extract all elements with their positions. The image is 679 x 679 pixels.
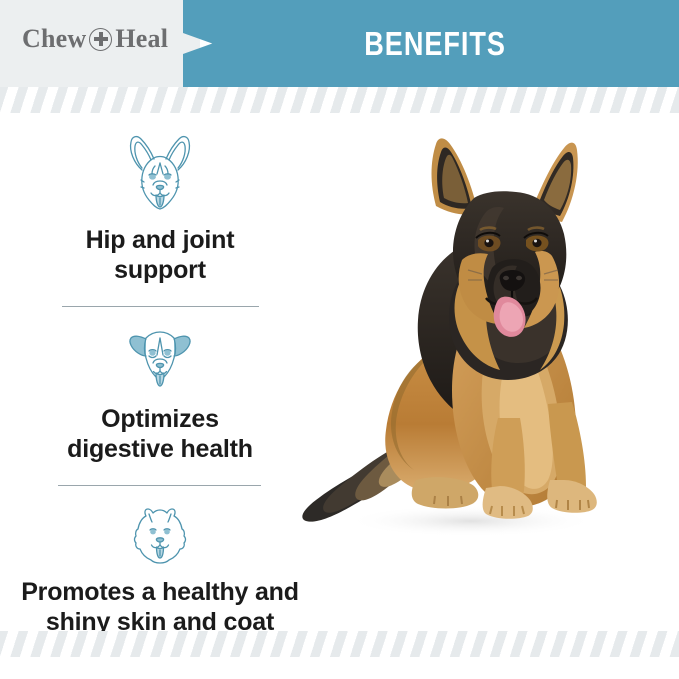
stripe-band-bottom — [0, 631, 679, 657]
benefit-item-skin-and-coat: Promotes a healthy and shiny skin and co… — [0, 504, 320, 637]
benefits-list: Hip and joint support — [0, 130, 320, 637]
benefit-label-line1: Promotes a healthy and — [0, 578, 320, 608]
page-title: BENEFITS — [228, 0, 635, 87]
circled-plus-icon — [89, 28, 112, 51]
samoyed-dog-face-icon — [0, 504, 320, 566]
benefit-label: Optimizes digestive health — [0, 405, 320, 464]
german-shepherd-sitting-photo — [286, 128, 626, 543]
benefit-divider — [58, 485, 261, 486]
benefit-item-hip-and-joint: Hip and joint support — [0, 130, 320, 307]
benefit-label-line2: digestive health — [0, 435, 320, 465]
brand-name-first: Chew — [22, 24, 86, 54]
benefit-label: Promotes a healthy and shiny skin and co… — [0, 578, 320, 637]
benefit-label: Hip and joint support — [0, 226, 320, 285]
brand-name-second: Heal — [115, 24, 168, 54]
benefit-item-digestive-health: Optimizes digestive health — [0, 325, 320, 486]
stripe-band-top — [0, 87, 679, 113]
benefit-label-line2: support — [0, 256, 320, 286]
terrier-dog-face-icon — [0, 325, 320, 393]
benefit-label-line1: Hip and joint — [0, 226, 320, 256]
benefits-infographic: Chew Heal BENEFITS — [0, 0, 679, 679]
brand-logo: Chew Heal — [22, 24, 168, 54]
header-banner: Chew Heal BENEFITS — [0, 0, 679, 87]
corgi-dog-face-icon — [0, 130, 320, 214]
benefit-divider — [62, 306, 259, 307]
benefit-label-line1: Optimizes — [0, 405, 320, 435]
